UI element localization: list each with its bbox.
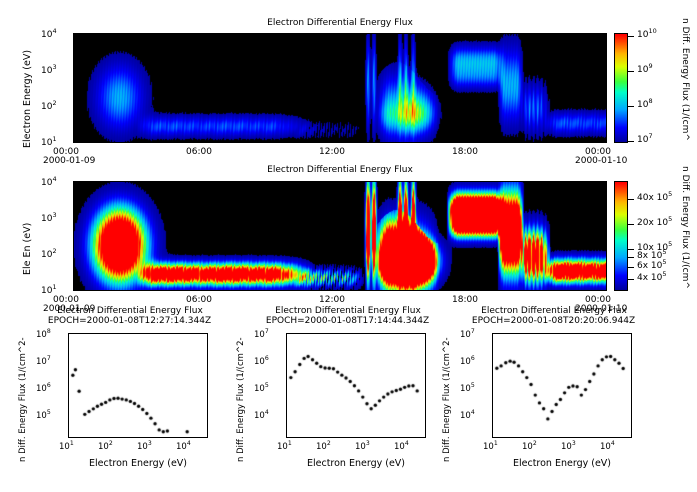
- spectrum-2-plot-area[interactable]: [286, 333, 426, 438]
- panel-top-cbar-label-7: 107: [637, 135, 653, 145]
- panel-top-colorbar: [614, 33, 628, 143]
- panel-top-cbar-label-10: 1010: [637, 30, 657, 40]
- panel-top-cbar-label-8: 108: [637, 100, 653, 110]
- spectrum-1-xlabel: Electron Energy (eV): [68, 458, 208, 469]
- panel-middle-cbar-label-40: 40x 105: [637, 193, 672, 203]
- spectrum-2-xlabel: Electron Energy (eV): [286, 458, 426, 469]
- panel-middle-ytick-4: 104: [41, 178, 57, 188]
- spectrum-2-ytick-7: 107: [254, 330, 269, 340]
- spectrum-1-ytick-5: 105: [36, 411, 51, 421]
- panel-middle-title: Electron Differential Energy Flux: [73, 165, 607, 175]
- spectrum-1-xtick-1: 101: [59, 442, 74, 452]
- spectrum-3-subtitle: EPOCH=2000-01-08T20:20:06.944Z: [446, 316, 661, 326]
- panel-top-ytick-3: 103: [41, 66, 57, 76]
- panel-top-ylabel: Electron Energy (eV): [22, 50, 33, 148]
- spectrum-3-xlabel: Electron Energy (eV): [492, 458, 632, 469]
- spectrum-1-xtick-4: 104: [176, 442, 191, 452]
- spectrum-1-plot-area[interactable]: [68, 333, 208, 438]
- spectrum-2-ytick-6: 106: [254, 357, 269, 367]
- panel-top-plot-area[interactable]: [73, 33, 607, 143]
- spectrum-3-xtick-2: 102: [522, 442, 537, 452]
- spectrum-1-ylabel: n Diff. Energy Flux (1/(cm^2-: [18, 337, 28, 462]
- spectrum-2-xtick-4: 104: [394, 442, 409, 452]
- spectrum-1-ytick-7: 107: [36, 357, 51, 367]
- spectrum-2-title: Electron Differential Energy Flux: [253, 306, 443, 316]
- panel-top-xtick-2: 12:00: [319, 147, 345, 157]
- panel-top-ytick-4: 104: [41, 30, 57, 40]
- spectrum-3-ytick-6: 106: [460, 357, 475, 367]
- panel-middle-xtick-2: 12:00: [319, 295, 345, 305]
- panel-middle-colorbar-ticks: [628, 181, 636, 291]
- panel-middle-colorbar-label: n Diff. Energy Flux (1/(cm^: [680, 166, 690, 289]
- spectrum-3-xtick-4: 104: [600, 442, 615, 452]
- spectrum-3-ytick-7: 107: [460, 330, 475, 340]
- panel-top-colorbar-label: n Diff. Energy Flux (1/(cm^: [680, 18, 690, 141]
- panel-middle-cbar-label-20: 20x 105: [637, 218, 672, 228]
- panel-middle-xtick-1: 06:00: [186, 295, 212, 305]
- panel-middle-plot-area[interactable]: [73, 181, 607, 291]
- spectrum-3-ylabel: n Diff. Energy Flux (1/(cm^2-: [442, 337, 452, 462]
- panel-middle-cbar-label-4: 4x 105: [637, 273, 667, 283]
- panel-top-xtick-3: 18:00: [452, 147, 478, 157]
- panel-middle-colorbar: [614, 181, 628, 291]
- spectrum-2-xtick-3: 103: [355, 442, 370, 452]
- panel-middle-ytick-2: 102: [41, 250, 57, 260]
- panel-top-colorbar-ticks: [628, 33, 636, 143]
- spectrum-1-title: Electron Differential Energy Flux: [35, 306, 225, 316]
- spectrum-3-title: Electron Differential Energy Flux: [459, 306, 649, 316]
- panel-top-ytick-2: 102: [41, 102, 57, 112]
- spectrum-1-ytick-8: 108: [36, 330, 51, 340]
- spectrum-1-xtick-3: 103: [137, 442, 152, 452]
- panel-top-title: Electron Differential Energy Flux: [73, 18, 607, 28]
- panel-middle-ylabel: Ele En (eV): [22, 223, 33, 275]
- spectrum-1-subtitle: EPOCH=2000-01-08T12:27:14.344Z: [22, 316, 237, 326]
- panel-middle-ytick-3: 103: [41, 214, 57, 224]
- spectrum-2-subtitle: EPOCH=2000-01-08T17:14:44.344Z: [240, 316, 455, 326]
- spectrum-2-ytick-5: 105: [254, 384, 269, 394]
- spectrum-2-xtick-1: 101: [277, 442, 292, 452]
- spectrum-3-xtick-3: 103: [561, 442, 576, 452]
- spectrum-2-ylabel: n Diff. Energy Flux (1/(cm^2-: [236, 337, 246, 462]
- spectrum-3-plot-area[interactable]: [492, 333, 632, 438]
- panel-top-cbar-label-9: 109: [637, 65, 653, 75]
- panel-top-xtick-1: 06:00: [186, 147, 212, 157]
- panel-middle-xtick-3: 18:00: [452, 295, 478, 305]
- spectrum-3-ytick-4: 104: [460, 411, 475, 421]
- spectrum-3-ytick-5: 105: [460, 384, 475, 394]
- spectrum-1-ytick-6: 106: [36, 384, 51, 394]
- spectrum-3-xtick-1: 101: [483, 442, 498, 452]
- spectrum-2-ytick-4: 104: [254, 411, 269, 421]
- spectrum-1-xtick-2: 102: [98, 442, 113, 452]
- spectrum-2-xtick-2: 102: [316, 442, 331, 452]
